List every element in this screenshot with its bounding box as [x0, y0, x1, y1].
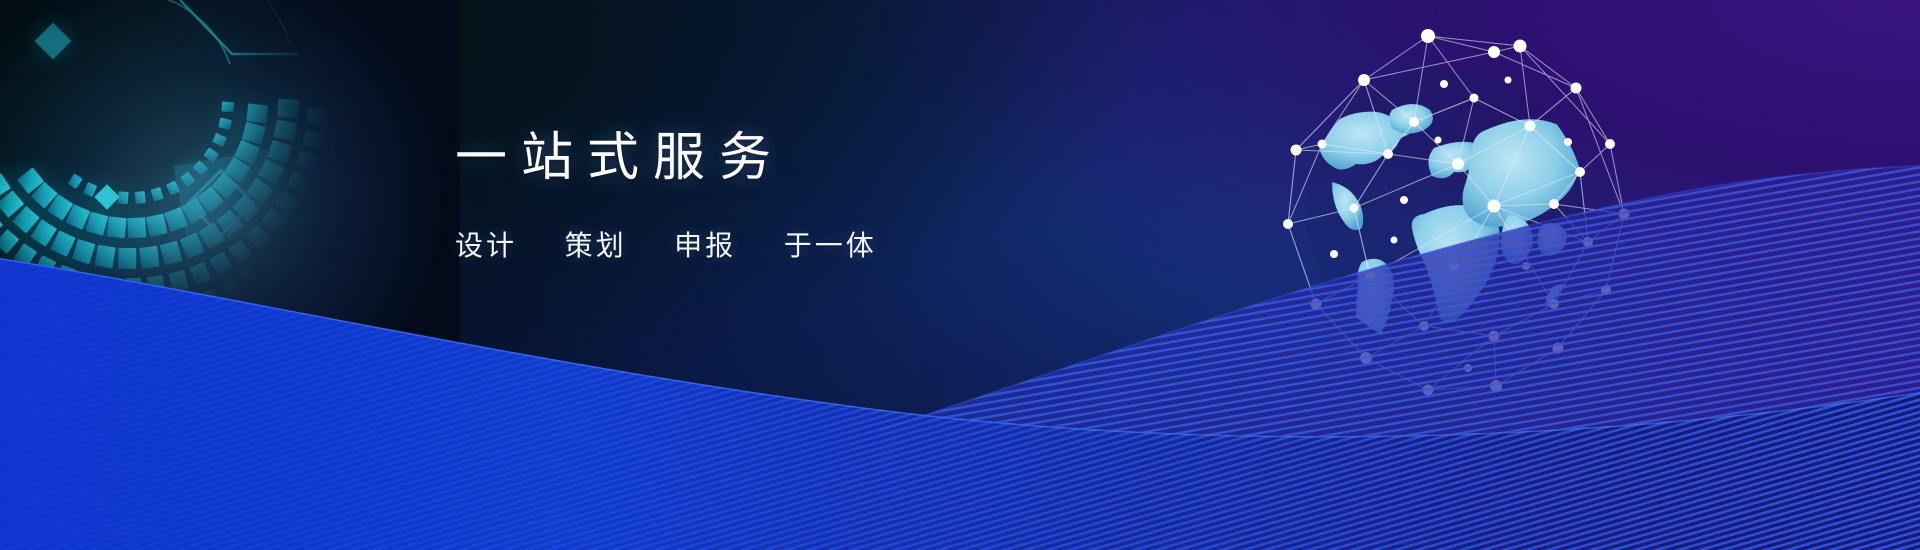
- banner-copy: 一站式服务 设计 策划 申报 于一体: [455, 132, 1155, 260]
- page-subtitle: 设计 策划 申报 于一体: [455, 232, 1155, 260]
- subtitle-part-4: 于一体: [784, 230, 877, 261]
- striped-wave: [0, 0, 1920, 550]
- hero-banner: 一站式服务 设计 策划 申报 于一体: [0, 0, 1920, 550]
- subtitle-part-1: 设计: [455, 230, 517, 261]
- subtitle-part-3: 申报: [674, 230, 736, 261]
- page-title: 一站式服务: [455, 132, 1155, 184]
- subtitle-part-2: 策划: [565, 230, 627, 261]
